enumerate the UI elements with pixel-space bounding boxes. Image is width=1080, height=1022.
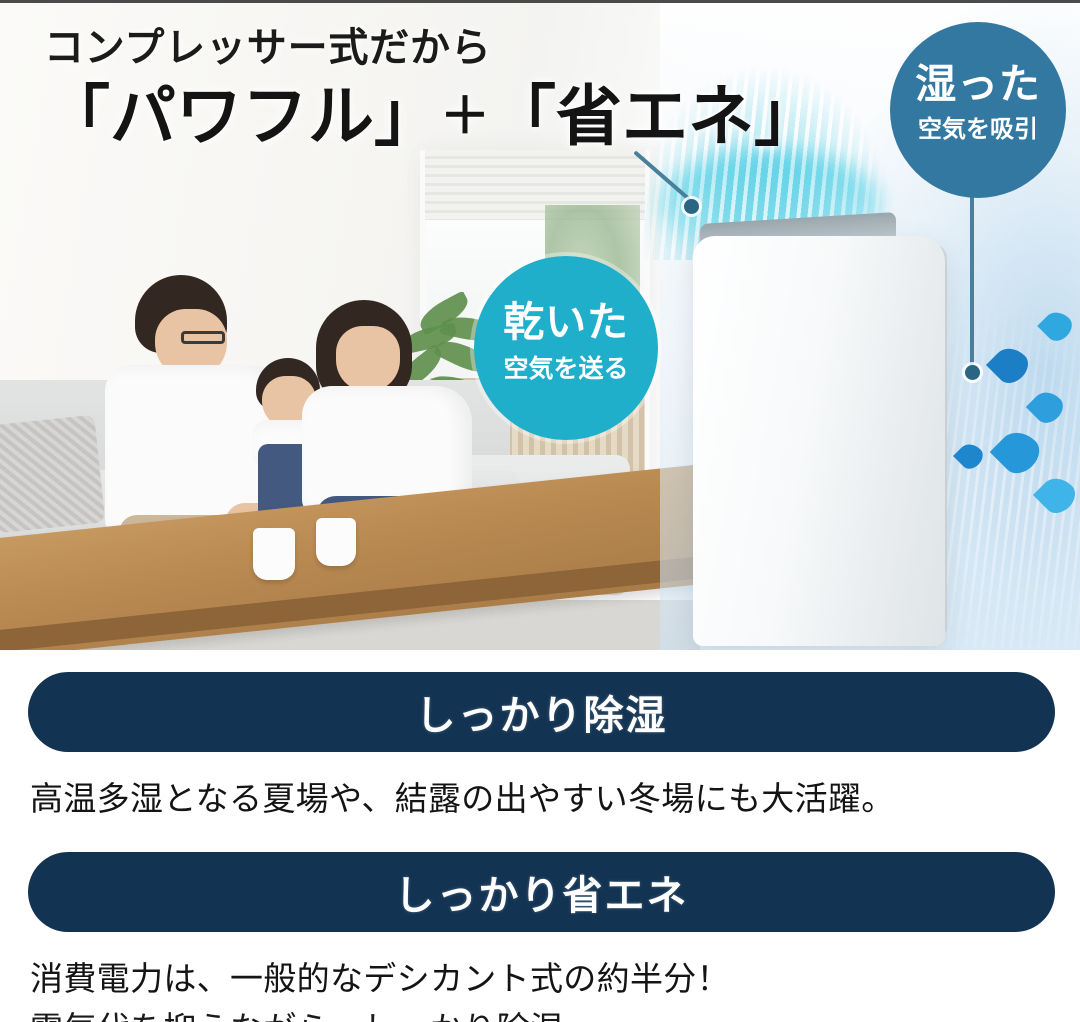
top-rule <box>0 0 1080 3</box>
feature-pill-dehumidify-label: しっかり除湿 <box>416 683 668 741</box>
features-section: しっかり除湿 高温多湿となる夏場や、結露の出やすい冬場にも大活躍。 しっかり省エ… <box>0 650 1080 1022</box>
feature-caption-energy-saving-cutoff: 電気代を抑えながら、しっかり除湿。 <box>30 1002 1060 1022</box>
water-droplet <box>1040 478 1074 512</box>
feature-pill-energy-saving-label: しっかり省エネ <box>395 863 689 921</box>
water-droplet <box>1032 392 1062 422</box>
hero-headline: コンプレッサー式だから 「パワフル」＋「省エネ」 <box>44 26 820 156</box>
badge-humid-air-subtitle: 空気を吸引 <box>890 105 1066 142</box>
water-droplet <box>1043 312 1071 340</box>
badge-dry-air: 乾いた 空気を送る <box>474 256 658 440</box>
pin-dot-humid <box>965 365 980 380</box>
feature-caption-energy-saving: 消費電力は、一般的なデシカント式の約半分！ <box>30 952 1060 1000</box>
hero-section: 乾いた 空気を送る 湿った 空気を吸引 コンプレッサー式だから 「パワフル」＋「… <box>0 0 1080 650</box>
badge-humid-air-title: 湿った <box>890 22 1066 105</box>
headline-part-energy-saving: 「省エネ」 <box>490 79 820 153</box>
pin-dot-dry <box>684 199 699 214</box>
badge-humid-air: 湿った 空気を吸引 <box>890 22 1066 198</box>
pin-line-humid <box>970 196 974 376</box>
water-droplet <box>998 432 1038 472</box>
dehumidifier-body <box>693 236 945 646</box>
headline-part-powerful: 「パワフル」 <box>44 79 440 153</box>
mug-right <box>316 518 356 566</box>
feature-pill-energy-saving: しっかり省エネ <box>28 852 1055 932</box>
mug-left <box>253 528 295 580</box>
water-droplet <box>993 348 1027 382</box>
headline-line-2: 「パワフル」＋「省エネ」 <box>44 78 820 156</box>
sofa-pillow <box>0 415 105 534</box>
feature-pill-dehumidify: しっかり除湿 <box>28 672 1055 752</box>
water-droplet <box>958 444 982 468</box>
headline-plus: ＋ <box>440 88 490 144</box>
badge-dry-air-subtitle: 空気を送る <box>474 343 658 382</box>
badge-dry-air-title: 乾いた <box>474 256 658 343</box>
feature-caption-dehumidify: 高温多湿となる夏場や、結露の出やすい冬場にも大活躍。 <box>30 772 1060 820</box>
headline-line-1: コンプレッサー式だから <box>44 26 820 70</box>
